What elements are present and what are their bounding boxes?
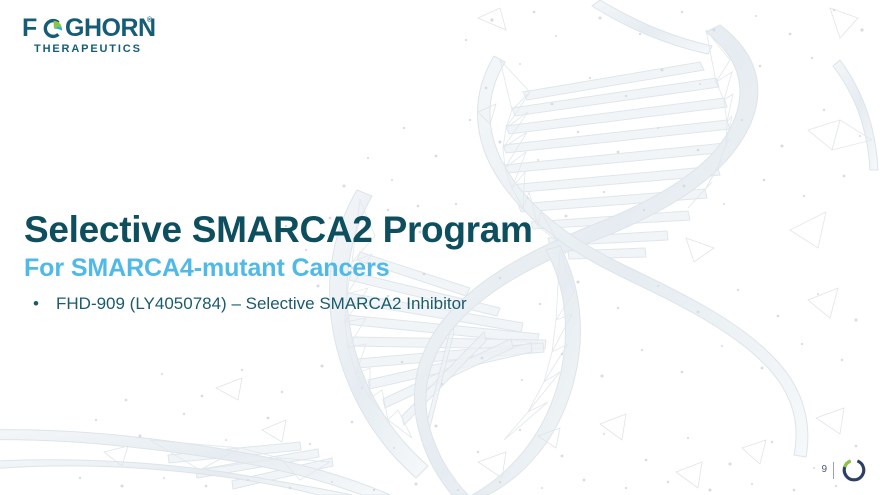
page-number: 9 [821,465,827,475]
logo-trademark-symbol: ® [147,17,152,24]
page-title: Selective SMARCA2 Program [24,208,664,252]
bullet-text: FHD-909 (LY4050784) – Selective SMARCA2 … [56,292,467,316]
bullet-list: • FHD-909 (LY4050784) – Selective SMARCA… [28,292,728,322]
footer-divider [833,462,834,479]
bullet-marker-icon: • [28,292,56,316]
slide-footer: 9 [821,455,866,485]
ring-logo-mark-icon [842,458,866,482]
slide-canvas: F GHORN ® THERAPEUTICS Selective SMARCA2… [0,0,880,495]
headline-block: Selective SMARCA2 Program For SMARCA4-mu… [24,208,664,284]
logo-letters-ghorn: GHORN [65,16,156,41]
page-subtitle: For SMARCA4-mutant Cancers [24,252,664,284]
foghorn-therapeutics-logo: F GHORN ® THERAPEUTICS [22,16,152,58]
logo-wordmark: F GHORN ® [22,16,152,40]
leaf-ring-o-icon [43,18,64,39]
logo-letter-f: F [22,16,37,41]
logo-tagline: THERAPEUTICS [34,43,142,55]
list-item: • FHD-909 (LY4050784) – Selective SMARCA… [28,292,728,316]
